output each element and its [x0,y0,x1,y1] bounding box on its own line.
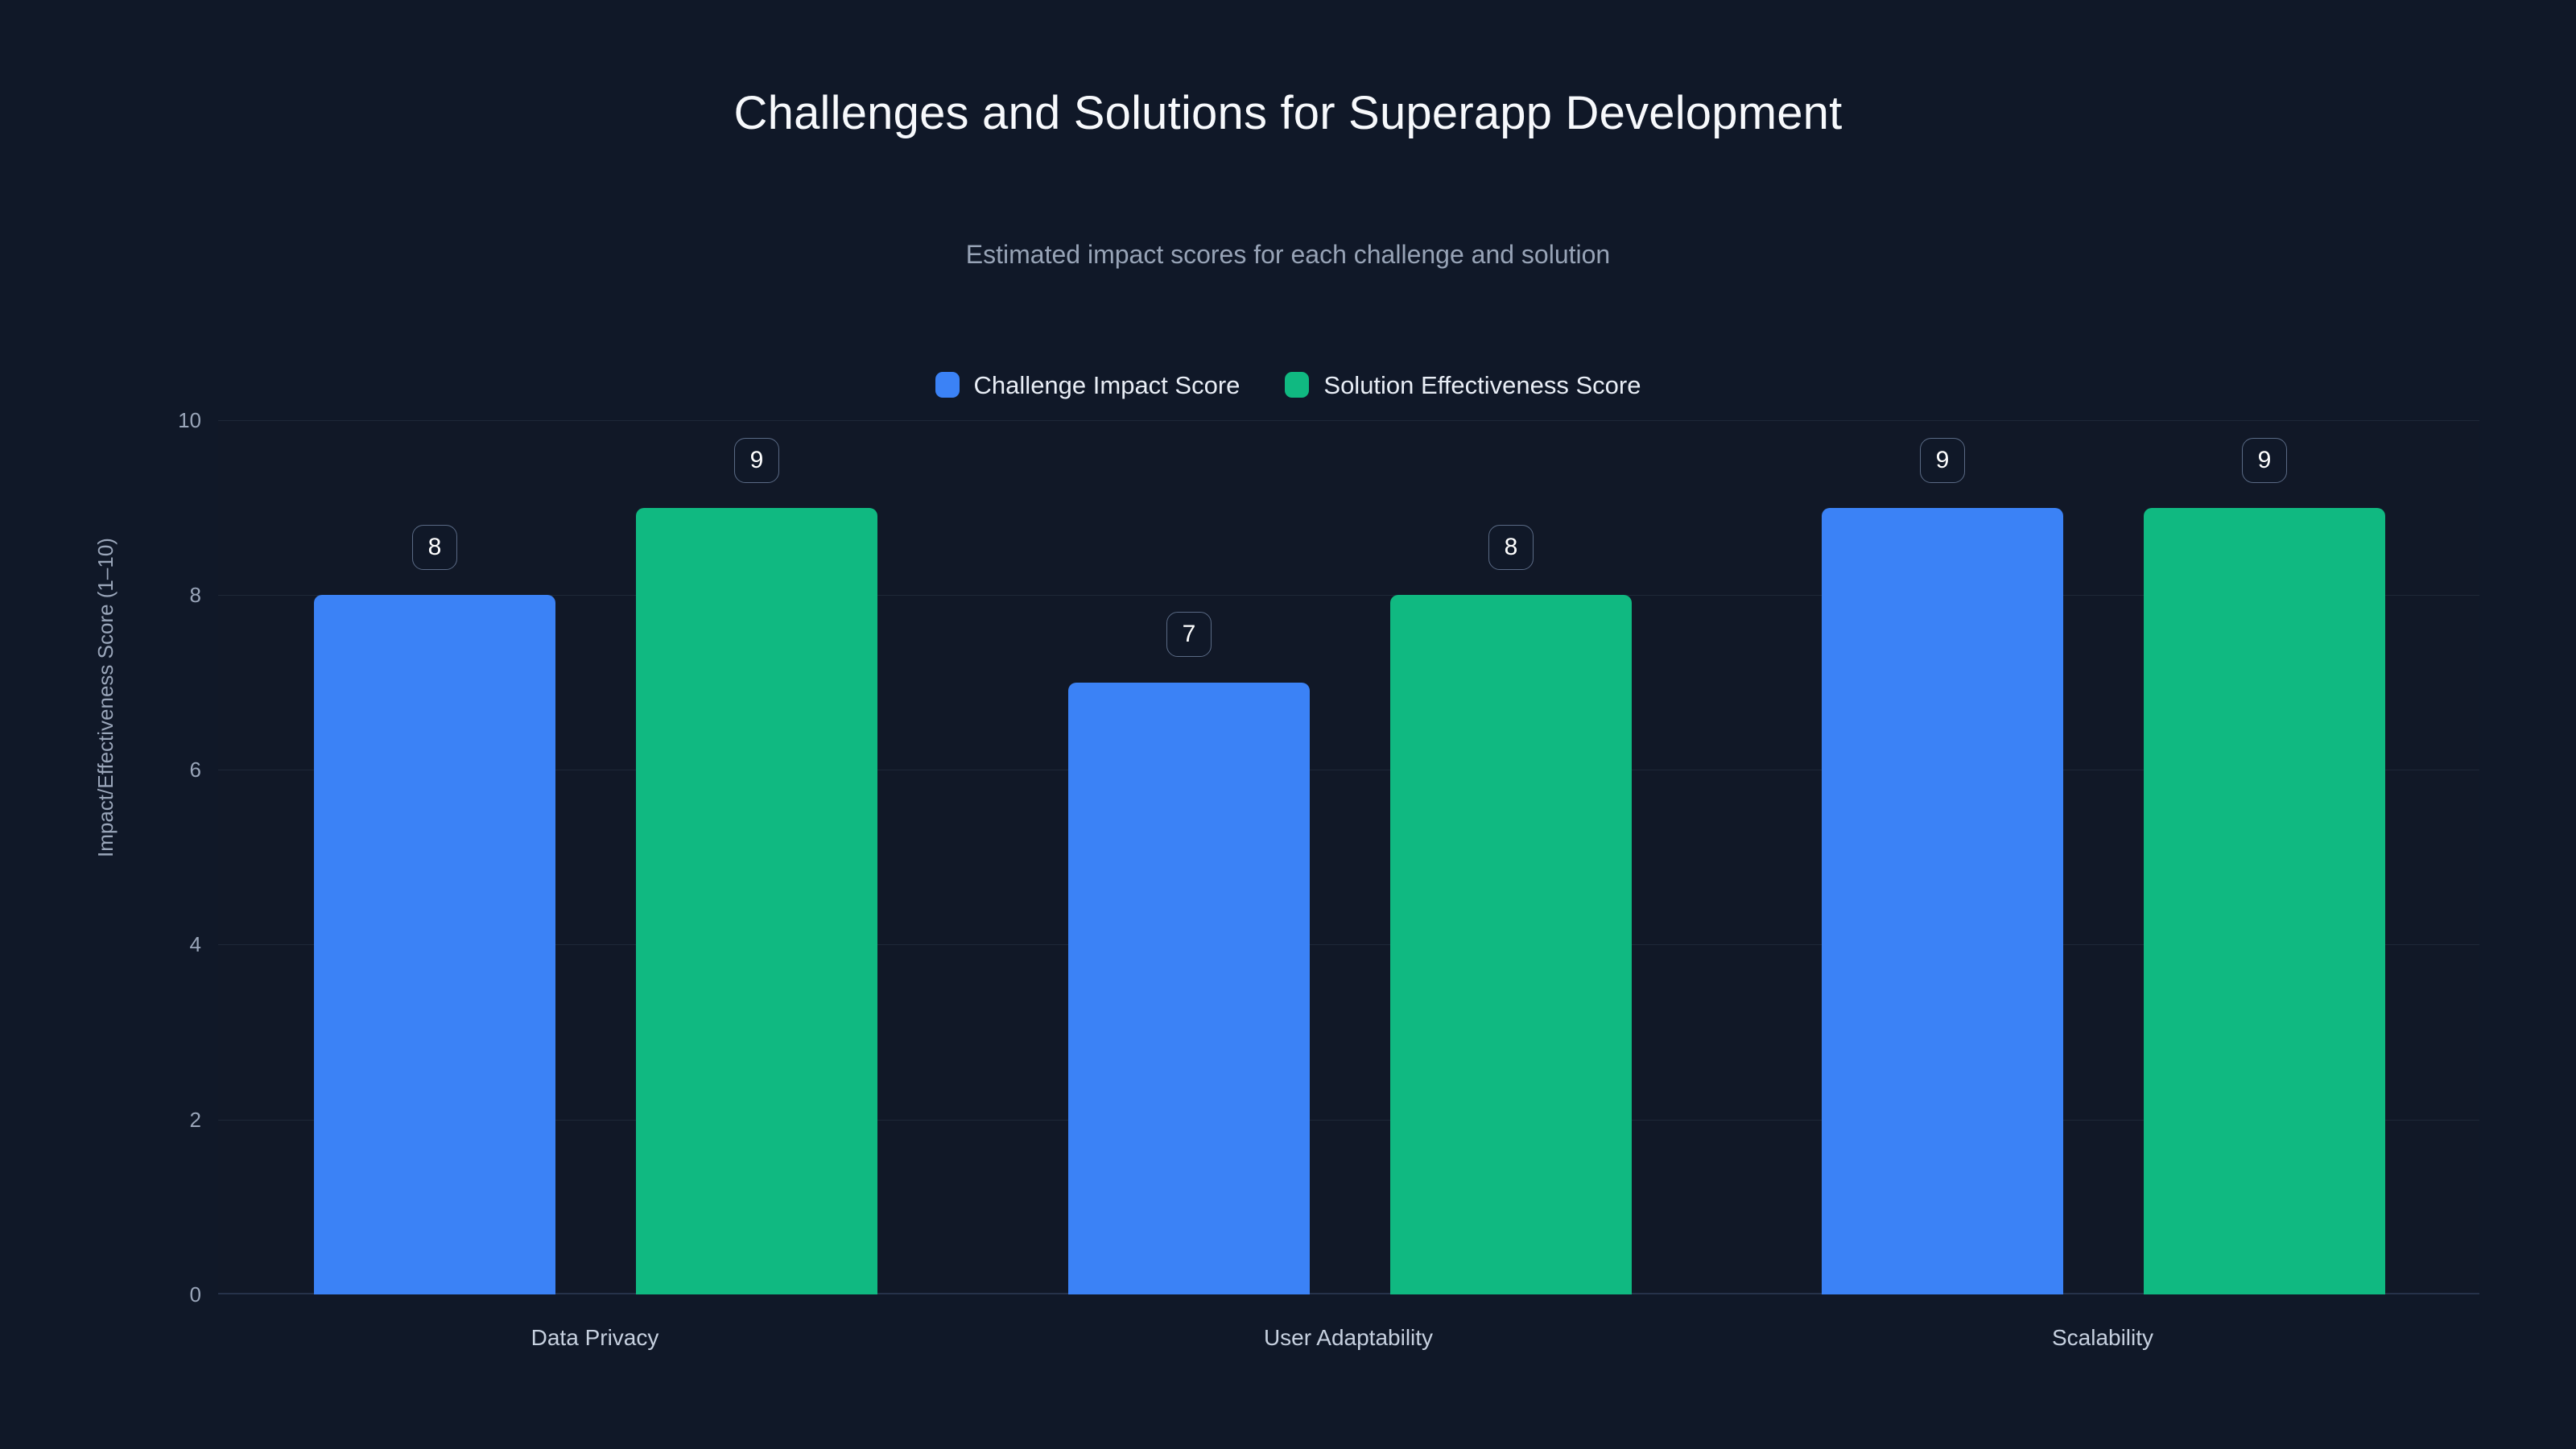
legend-swatch-blue-icon [935,372,960,398]
legend-swatch-green-icon [1285,372,1309,398]
bar-data-privacy-solution[interactable] [636,508,877,1294]
chart-page: Challenges and Solutions for Superapp De… [0,0,2576,1449]
legend-item-solution-effectiveness-score[interactable]: Solution Effectiveness Score [1285,372,1641,398]
y-tick-label-2: 2 [105,1109,201,1130]
y-tick-label-8: 8 [105,584,201,605]
gridline-2 [218,1120,2479,1121]
gridline-10 [218,420,2479,421]
x-tick-label-data-privacy: Data Privacy [313,1327,877,1349]
y-tick-label-10: 10 [105,410,201,431]
value-badge-data-privacy-challenge: 8 [412,525,457,570]
legend-item-challenge-impact-score[interactable]: Challenge Impact Score [935,372,1241,398]
bar-scalability-solution[interactable] [2144,508,2385,1294]
x-tick-label-scalability: Scalability [1821,1327,2384,1349]
plot-area [218,420,2479,1294]
gridline-4 [218,944,2479,945]
value-badge-user-adaptability-solution: 8 [1488,525,1534,570]
chart-legend: Challenge Impact Score Solution Effectiv… [0,372,2576,398]
value-badge-user-adaptability-challenge: 7 [1166,612,1212,657]
legend-label-challenge: Challenge Impact Score [974,373,1241,398]
x-tick-label-user-adaptability: User Adaptability [1067,1327,1630,1349]
chart-subtitle: Estimated impact scores for each challen… [0,242,2576,267]
y-tick-label-4: 4 [105,934,201,955]
bar-user-adaptability-challenge[interactable] [1068,683,1310,1294]
bar-user-adaptability-solution[interactable] [1390,595,1632,1294]
chart-title: Challenges and Solutions for Superapp De… [0,90,2576,137]
legend-label-solution: Solution Effectiveness Score [1323,373,1641,398]
x-axis-line [218,1293,2479,1294]
gridline-8 [218,595,2479,596]
value-badge-data-privacy-solution: 9 [734,438,779,483]
y-tick-label-0: 0 [105,1284,201,1305]
gridline-6 [218,770,2479,770]
y-tick-label-6: 6 [105,759,201,780]
value-badge-scalability-solution: 9 [2242,438,2287,483]
value-badge-scalability-challenge: 9 [1920,438,1965,483]
bar-scalability-challenge[interactable] [1822,508,2063,1294]
bar-data-privacy-challenge[interactable] [314,595,555,1294]
